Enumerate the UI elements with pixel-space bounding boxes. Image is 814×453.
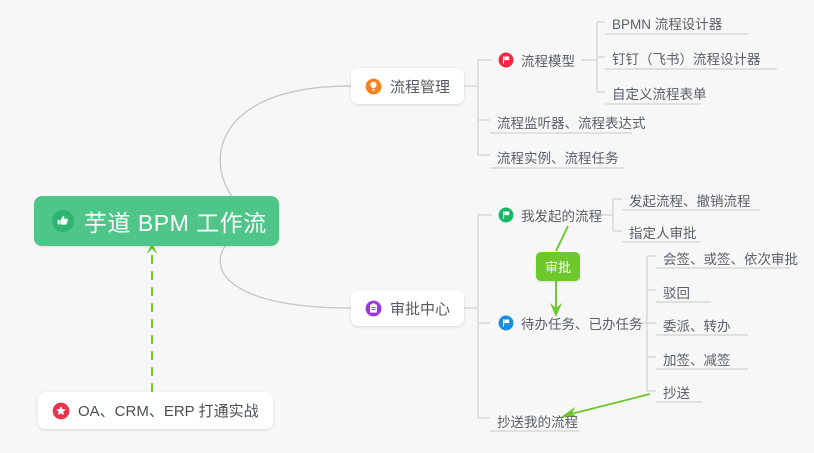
branch-node-liucheng-guanli[interactable]: 流程管理	[351, 68, 464, 104]
node-add-remove-sign[interactable]: 加签、减签	[656, 344, 739, 374]
node-start-cancel[interactable]: 发起流程、撤销流程	[622, 185, 759, 215]
node-label: 待办任务、已办任务	[521, 313, 643, 333]
node-dingtalk-feishu-designer[interactable]: 钉钉（飞书）流程设计器	[605, 43, 769, 73]
approve-tag-label: 审批	[545, 260, 571, 275]
node-label: 流程模型	[521, 50, 575, 70]
branch-label: 审批中心	[390, 298, 450, 319]
thumbs-up-icon	[51, 209, 75, 233]
flag-icon	[498, 52, 514, 68]
root-label: 芋道 BPM 工作流	[84, 204, 267, 238]
node-cc-to-me[interactable]: 抄送我的流程	[490, 406, 586, 436]
node-label: BPMN 流程设计器	[612, 13, 722, 33]
node-label: 委派、转办	[663, 315, 731, 335]
node-todo-done[interactable]: 待办任务、已办任务	[492, 308, 651, 338]
mindmap-canvas: 芋道 BPM 工作流 流程管理 流程模型 BPMN 流程设计器 钉钉（飞书）流程	[0, 0, 814, 453]
lightbulb-icon	[365, 78, 382, 95]
node-label: 流程监听器、流程表达式	[497, 112, 646, 132]
node-listener-expression[interactable]: 流程监听器、流程表达式	[490, 107, 654, 137]
approve-tag[interactable]: 审批	[536, 252, 580, 281]
node-countersign[interactable]: 会签、或签、依次审批	[656, 243, 806, 273]
node-label: 发起流程、撤销流程	[629, 190, 751, 210]
node-label: 流程实例、流程任务	[497, 147, 619, 167]
node-label: 抄送我的流程	[497, 411, 578, 431]
node-reject[interactable]: 驳回	[656, 277, 698, 307]
node-cc[interactable]: 抄送	[656, 377, 698, 407]
node-liucheng-moxing[interactable]: 流程模型	[492, 45, 583, 75]
root-node[interactable]: 芋道 BPM 工作流	[34, 196, 279, 246]
node-label: 我发起的流程	[521, 205, 602, 225]
node-label: 指定人审批	[629, 222, 697, 242]
flag-icon	[498, 315, 514, 331]
clipboard-icon	[365, 300, 382, 317]
flag-icon	[498, 207, 514, 223]
node-label: 钉钉（飞书）流程设计器	[612, 48, 761, 68]
node-label: 抄送	[663, 382, 690, 402]
node-label: 加签、减签	[663, 349, 731, 369]
star-icon	[52, 402, 70, 420]
node-my-started[interactable]: 我发起的流程	[492, 200, 610, 230]
branch-node-shenpi-zhongxin[interactable]: 审批中心	[351, 290, 464, 326]
node-bpmn-designer[interactable]: BPMN 流程设计器	[605, 8, 730, 38]
node-oa-crm-erp[interactable]: OA、CRM、ERP 打通实战	[38, 392, 273, 429]
node-label: OA、CRM、ERP 打通实战	[78, 400, 259, 421]
node-delegate-transfer[interactable]: 委派、转办	[656, 310, 739, 340]
node-instance-task[interactable]: 流程实例、流程任务	[490, 142, 627, 172]
node-label: 驳回	[663, 282, 690, 302]
node-label: 会签、或签、依次审批	[663, 248, 798, 268]
branch-label: 流程管理	[390, 76, 450, 97]
node-label: 自定义流程表单	[612, 83, 707, 103]
node-custom-form[interactable]: 自定义流程表单	[605, 78, 715, 108]
